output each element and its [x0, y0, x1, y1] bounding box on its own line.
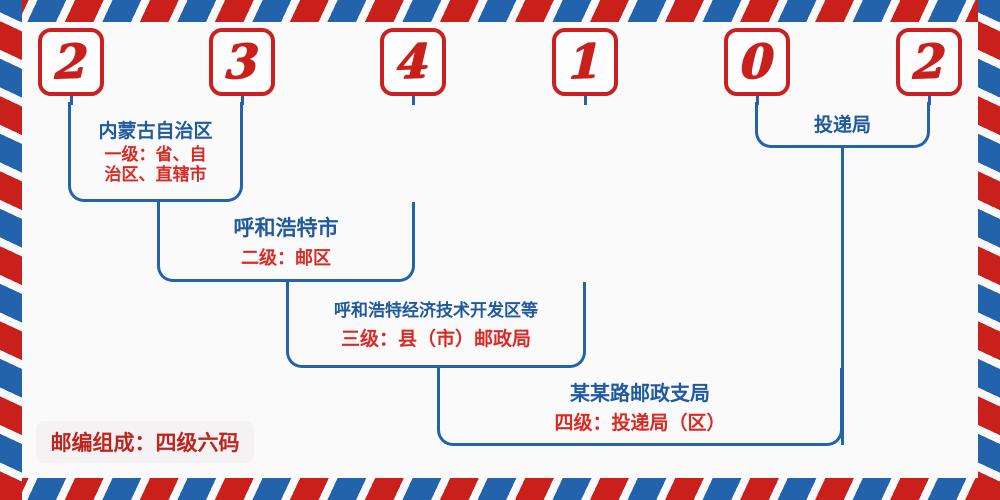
digit-glyph-2: 3: [225, 38, 259, 86]
envelope-border-bottom: [0, 478, 1000, 500]
label-box-level-3[interactable]: 呼和浩特经济技术开发区等 三级：县（市）邮政局: [286, 282, 586, 368]
label-sub-level-3: 三级：县（市）邮政局: [341, 324, 531, 351]
digit-card-2[interactable]: 3: [209, 28, 275, 96]
digit-glyph-5: 0: [740, 38, 774, 86]
label-title-level-3: 呼和浩特经济技术开发区等: [334, 296, 538, 321]
digit-glyph-6: 2: [912, 38, 946, 86]
digit-card-1[interactable]: 2: [38, 28, 104, 96]
label-title-level-1: 内蒙古自治区: [98, 116, 212, 143]
postcode-structure-diagram: 2 3 4 1 0 2 投递局 内蒙古自治区 一级：省、自 治区、直辖市 呼和浩…: [0, 0, 1000, 500]
legend-chip: 邮编组成：四级六码: [36, 421, 254, 463]
label-sub-level-1-line-2: 治区、直辖市: [105, 165, 207, 185]
label-title-level-4: 某某路邮政支局: [570, 377, 710, 406]
digit-card-3[interactable]: 4: [380, 28, 446, 96]
label-title-delivery-office: 投递局: [814, 110, 871, 137]
digit-card-4[interactable]: 1: [552, 28, 618, 96]
label-box-delivery-office[interactable]: 投递局: [755, 102, 930, 148]
digit-card-5[interactable]: 0: [724, 28, 790, 96]
label-sub-level-2: 二级：邮区: [241, 244, 331, 270]
legend-label: 邮编组成：四级六码: [51, 427, 240, 457]
envelope-border-left: [0, 0, 22, 500]
digit-glyph-1: 2: [54, 38, 88, 86]
digit-card-6[interactable]: 2: [896, 28, 962, 96]
label-title-level-2: 呼和浩特市: [234, 212, 339, 242]
envelope-border-top: [0, 0, 1000, 22]
digit-glyph-4: 1: [568, 38, 602, 86]
label-box-level-2[interactable]: 呼和浩特市 二级：邮区: [157, 202, 415, 282]
label-box-level-1[interactable]: 内蒙古自治区 一级：省、自 治区、直辖市: [68, 102, 243, 202]
envelope-border-right: [978, 0, 1000, 500]
label-box-level-4[interactable]: 某某路邮政支局 四级：投递局（区）: [437, 368, 843, 446]
digit-glyph-3: 4: [396, 38, 430, 86]
label-sub-level-1-line-1: 一级：省、自: [105, 145, 207, 165]
label-sub-level-4: 四级：投递局（区）: [554, 408, 725, 435]
